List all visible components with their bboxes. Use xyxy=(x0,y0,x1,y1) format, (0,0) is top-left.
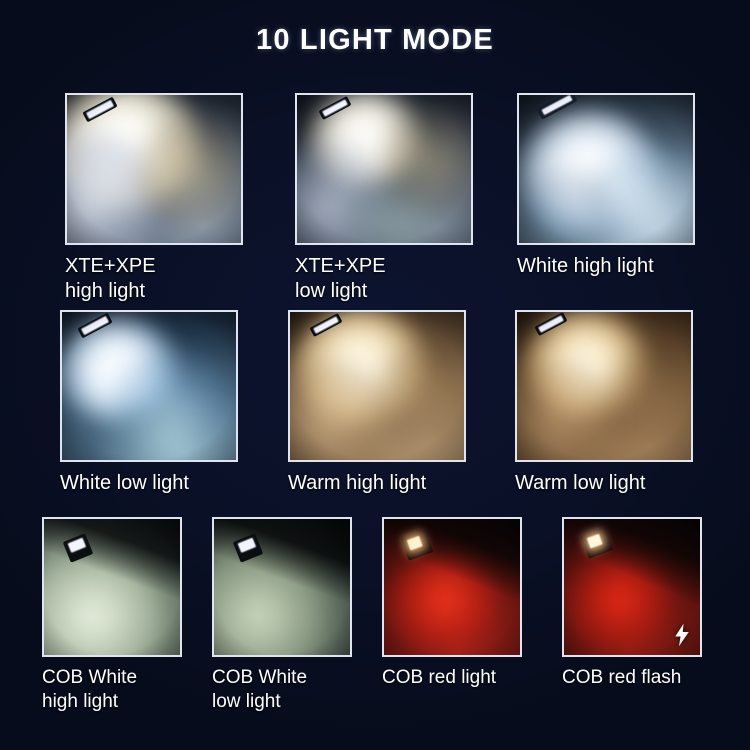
mode-cell-xte-xpe-low[interactable]: XTE+XPE low light xyxy=(295,93,473,304)
mode-label: Warm high light xyxy=(288,471,466,496)
mode-cell-cob-red-flash[interactable]: COB red flash xyxy=(562,517,702,690)
mode-label: XTE+XPE high light xyxy=(65,254,243,304)
mode-cell-cob-white-high[interactable]: COB White high light xyxy=(42,517,182,714)
beam-photo-cob-white-low xyxy=(212,517,352,657)
mode-label: XTE+XPE low light xyxy=(295,254,473,304)
mode-label: White high light xyxy=(517,254,695,279)
mode-cell-warm-high[interactable]: Warm high light xyxy=(288,310,466,496)
beam-photo-warm-high xyxy=(288,310,466,462)
beam-photo-cob-red-flash xyxy=(562,517,702,657)
mode-cell-white-low[interactable]: White low light xyxy=(60,310,238,496)
mode-cell-cob-white-low[interactable]: COB White low light xyxy=(212,517,352,714)
beam-photo-white-low xyxy=(60,310,238,462)
beam-photo-xte-xpe-high xyxy=(65,93,243,245)
mode-label: COB White high light xyxy=(42,666,182,714)
beam-photo-cob-red xyxy=(382,517,522,657)
page-title: 10 LIGHT MODE xyxy=(0,24,750,57)
mode-cell-white-high[interactable]: White high light xyxy=(517,93,695,279)
mode-cell-xte-xpe-high[interactable]: XTE+XPE high light xyxy=(65,93,243,304)
beam-photo-white-high xyxy=(517,93,695,245)
beam-photo-xte-xpe-low xyxy=(295,93,473,245)
mode-cell-warm-low[interactable]: Warm low light xyxy=(515,310,693,496)
mode-cell-cob-red[interactable]: COB red light xyxy=(382,517,522,690)
mode-label: COB red light xyxy=(382,666,522,690)
mode-label: COB White low light xyxy=(212,666,352,714)
mode-label: White low light xyxy=(60,471,238,496)
beam-photo-cob-white-high xyxy=(42,517,182,657)
mode-label: Warm low light xyxy=(515,471,693,496)
light-mode-poster: 10 LIGHT MODE XTE+XPE high light XT xyxy=(0,0,750,750)
mode-label: COB red flash xyxy=(562,666,702,690)
beam-photo-warm-low xyxy=(515,310,693,462)
